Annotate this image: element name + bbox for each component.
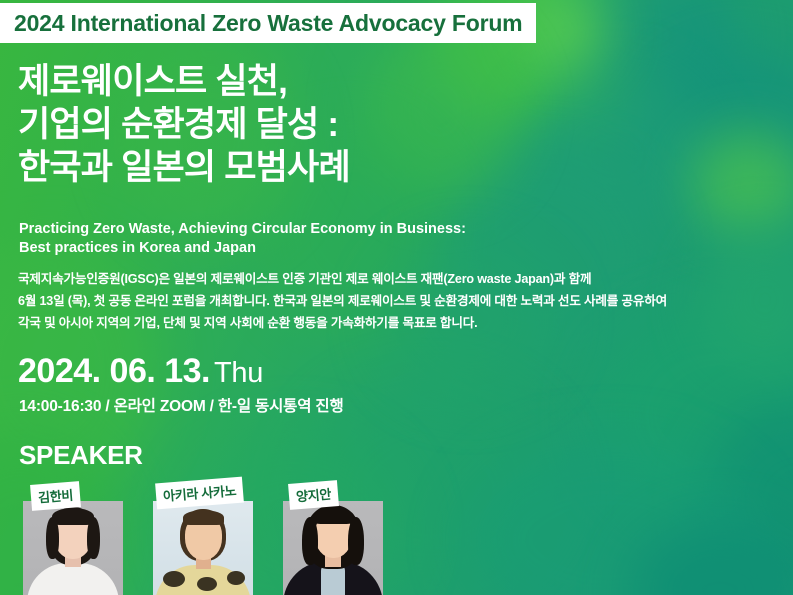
headline-line-3: 한국과 일본의 모범사례: [18, 146, 350, 189]
page-title: 제로웨이스트 실천, 기업의 순환경제 달성 : 한국과 일본의 모범사례: [18, 60, 350, 189]
speaker-photo: [283, 501, 383, 595]
speaker-card[interactable]: 양지안: [283, 485, 383, 595]
event-date: 2024. 06. 13.Thu: [18, 352, 263, 391]
speaker-list: 김한비 아키라 사카노: [0, 485, 793, 595]
forum-poster: 2024 International Zero Waste Advocacy F…: [0, 0, 793, 595]
headline-line-2: 기업의 순환경제 달성 :: [18, 103, 350, 146]
headline-line-1: 제로웨이스트 실천,: [18, 60, 350, 103]
event-date-value: 2024. 06. 13.: [18, 352, 210, 390]
event-weekday: Thu: [214, 357, 263, 389]
description-line-3: 각국 및 아시아 지역의 기업, 단체 및 지역 사회에 순환 행동을 가속화하…: [18, 312, 667, 334]
event-details: 14:00-16:30 / 온라인 ZOOM / 한-일 동시통역 진행: [19, 394, 344, 416]
speaker-section-heading: SPEAKER: [19, 440, 143, 471]
description-paragraph: 국제지속가능인증원(IGSC)은 일본의 제로웨이스트 인증 기관인 제로 웨이…: [18, 268, 667, 334]
speaker-photo: [153, 501, 253, 595]
subtitle-line-1: Practicing Zero Waste, Achieving Circula…: [19, 220, 466, 239]
speaker-card[interactable]: 아키라 사카노: [153, 485, 253, 595]
subtitle-line-2: Best practices in Korea and Japan: [19, 239, 466, 258]
forum-title-banner: 2024 International Zero Waste Advocacy F…: [0, 3, 536, 43]
description-line-1: 국제지속가능인증원(IGSC)은 일본의 제로웨이스트 인증 기관인 제로 웨이…: [18, 268, 667, 290]
speaker-photo: [23, 501, 123, 595]
description-line-2: 6월 13일 (목), 첫 공동 온라인 포럼을 개최합니다. 한국과 일본의 …: [18, 290, 667, 312]
forum-title: 2024 International Zero Waste Advocacy F…: [0, 10, 522, 37]
speaker-name-tag: 양지안: [288, 480, 339, 510]
speaker-name-tag: 김한비: [30, 481, 81, 511]
page-subtitle: Practicing Zero Waste, Achieving Circula…: [19, 220, 466, 258]
speaker-card[interactable]: 김한비: [23, 485, 123, 595]
